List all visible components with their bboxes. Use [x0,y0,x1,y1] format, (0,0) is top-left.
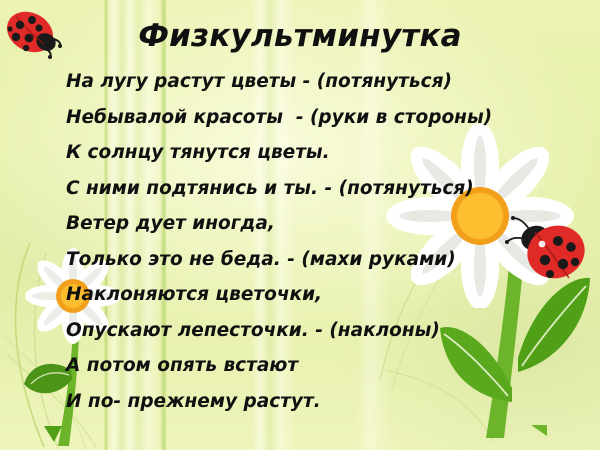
poem-line: Наклоняются цветочки, [66,277,586,313]
page-title: Физкультминутка [0,18,600,54]
poem-line: А потом опять встают [66,348,586,384]
poem-line: Ветер дует иногда, [66,206,586,242]
leaf-speck-bottom-right-icon [530,424,550,440]
poem-text-block: На лугу растут цветы - (потянуться) Небы… [66,64,586,419]
leaf-speck-bottom-left-icon [42,424,68,444]
poem-line: Небывалой красоты - (руки в стороны) [66,100,586,136]
poem-line: С ними подтянись и ты. - (потянуться) [66,171,586,207]
poem-line: И по- прежнему растут. [66,384,586,420]
slide-canvas: Физкультминутка На лугу растут цветы - (… [0,0,600,450]
poem-line: К солнцу тянутся цветы. [66,135,586,171]
poem-line: Только это не беда. - (махи руками) [66,242,586,278]
poem-line: Опускают лепесточки. - (наклоны) [66,313,586,349]
poem-line: На лугу растут цветы - (потянуться) [66,64,586,100]
leaf-icon-small [24,364,72,393]
